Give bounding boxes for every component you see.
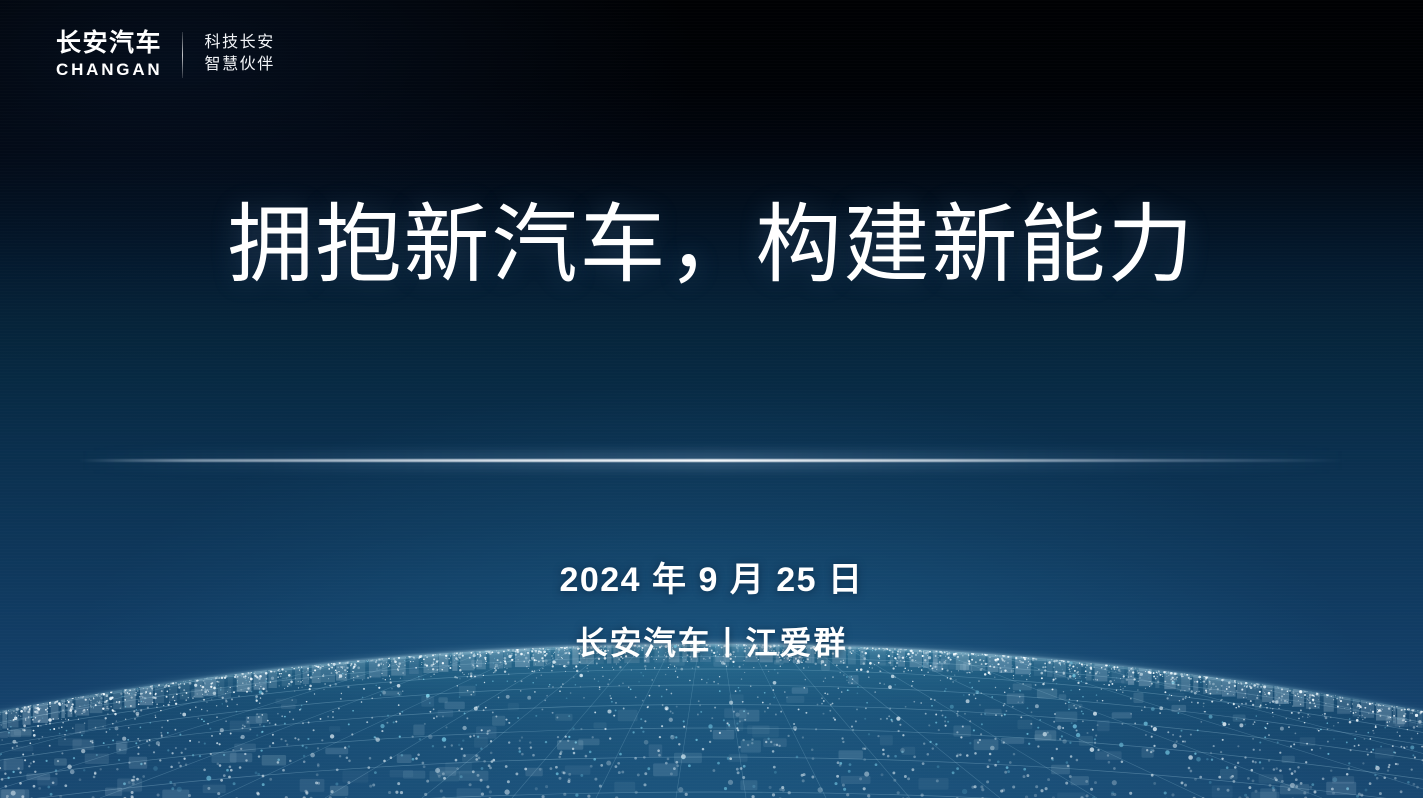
logo-brand-en: CHANGAN — [56, 61, 162, 78]
slide-title: 拥抱新汽车，构建新能力 — [0, 196, 1423, 295]
presentation-slide: 长安汽车 CHANGAN 科技长安 智慧伙伴 拥抱新汽车，构建新能力 2024 … — [0, 0, 1423, 798]
presenter-name: 长安汽车丨江爱群 — [0, 618, 1423, 664]
presentation-date: 2024 年 9 月 25 日 — [0, 552, 1423, 601]
logo-tagline-line1: 科技长安 — [204, 35, 274, 52]
logo-wordmark: 长安汽车 CHANGAN — [56, 31, 182, 78]
logo-brand-cn: 长安汽车 — [56, 31, 162, 56]
light-streak — [78, 459, 1348, 462]
logo-tagline-line2: 智慧伙伴 — [204, 57, 274, 74]
changan-logo: 长安汽车 CHANGAN 科技长安 智慧伙伴 — [56, 31, 275, 78]
logo-tagline: 科技长安 智慧伙伴 — [183, 35, 274, 74]
